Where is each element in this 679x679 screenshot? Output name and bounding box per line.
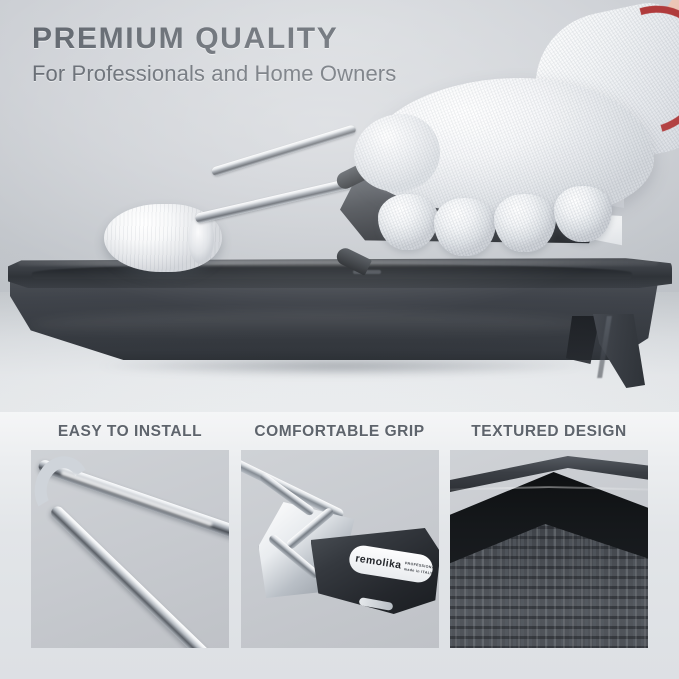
product-listing-image: PREMIUM QUALITY For Professionals and Ho… (0, 0, 679, 679)
feature-image-textured-tray (450, 450, 648, 648)
feature-label: COMFORTABLE GRIP (254, 423, 424, 441)
headline: PREMIUM QUALITY (32, 22, 396, 56)
hero-section: PREMIUM QUALITY For Professionals and Ho… (0, 0, 679, 412)
headline-block: PREMIUM QUALITY For Professionals and Ho… (32, 22, 396, 87)
glove-thumb (354, 114, 440, 192)
glove-knit-texture (354, 114, 440, 192)
tray-body-sheen (30, 312, 590, 338)
feature-comfortable-grip: COMFORTABLE GRIP remolika PROFESSIONAL m… (241, 412, 439, 679)
feature-label: TEXTURED DESIGN (471, 423, 626, 441)
glove-knit-texture (554, 186, 612, 242)
glove-finger (378, 194, 438, 250)
brand-name: remolika (354, 553, 402, 571)
glove-finger (434, 198, 496, 256)
feature-image-wire-bail (31, 450, 229, 648)
feature-strip: EASY TO INSTALL COMFORTABLE GRIP (0, 412, 679, 679)
glove-finger (554, 186, 612, 242)
glove-knit-texture (494, 194, 556, 252)
tray-body (10, 282, 658, 360)
subheadline: For Professionals and Home Owners (32, 61, 396, 87)
brand-subtext: PROFESSIONAL made in ITALY (403, 561, 434, 576)
glove-finger (494, 194, 556, 252)
glove-knit-texture (378, 194, 438, 250)
glove-knit-texture (434, 198, 496, 256)
feature-grid: EASY TO INSTALL COMFORTABLE GRIP (0, 412, 679, 679)
feature-image-handle-grip: remolika PROFESSIONAL made in ITALY (241, 450, 439, 648)
feature-textured-design: TEXTURED DESIGN (450, 412, 648, 679)
feature-label: EASY TO INSTALL (58, 423, 202, 441)
feature-easy-to-install: EASY TO INSTALL (31, 412, 229, 679)
gloved-hand (360, 0, 679, 284)
